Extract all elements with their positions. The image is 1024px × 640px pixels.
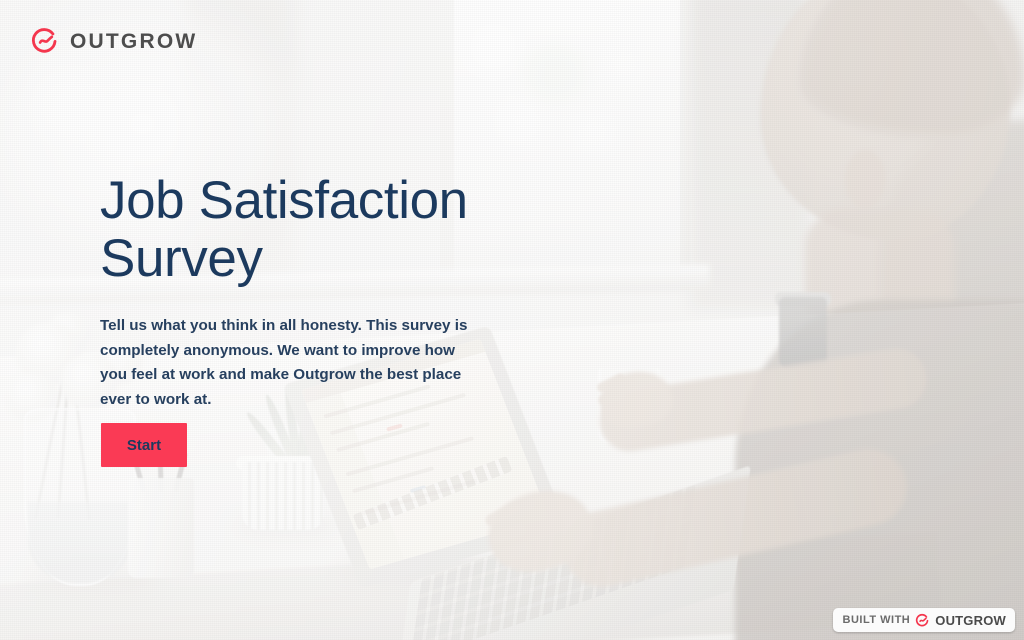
brand-name: OUTGROW [70, 31, 197, 52]
hero-section: Job Satisfaction Survey Tell us what you… [100, 172, 530, 412]
survey-landing-page: OUTGROW Job Satisfaction Survey Tell us … [0, 0, 1024, 640]
outgrow-logo-icon [30, 26, 60, 56]
built-with-label: BUILT WITH [843, 615, 911, 626]
built-with-outgrow-badge[interactable]: BUILT WITH OUTGROW [833, 608, 1015, 632]
brand-logo[interactable]: OUTGROW [30, 26, 197, 56]
page-description: Tell us what you think in all honesty. T… [100, 314, 482, 412]
page-title: Job Satisfaction Survey [100, 172, 530, 288]
start-button[interactable]: Start [101, 423, 187, 467]
badge-brand-name: OUTGROW [935, 614, 1006, 627]
outgrow-logo-icon [915, 613, 930, 628]
page-content: OUTGROW Job Satisfaction Survey Tell us … [0, 0, 1024, 640]
